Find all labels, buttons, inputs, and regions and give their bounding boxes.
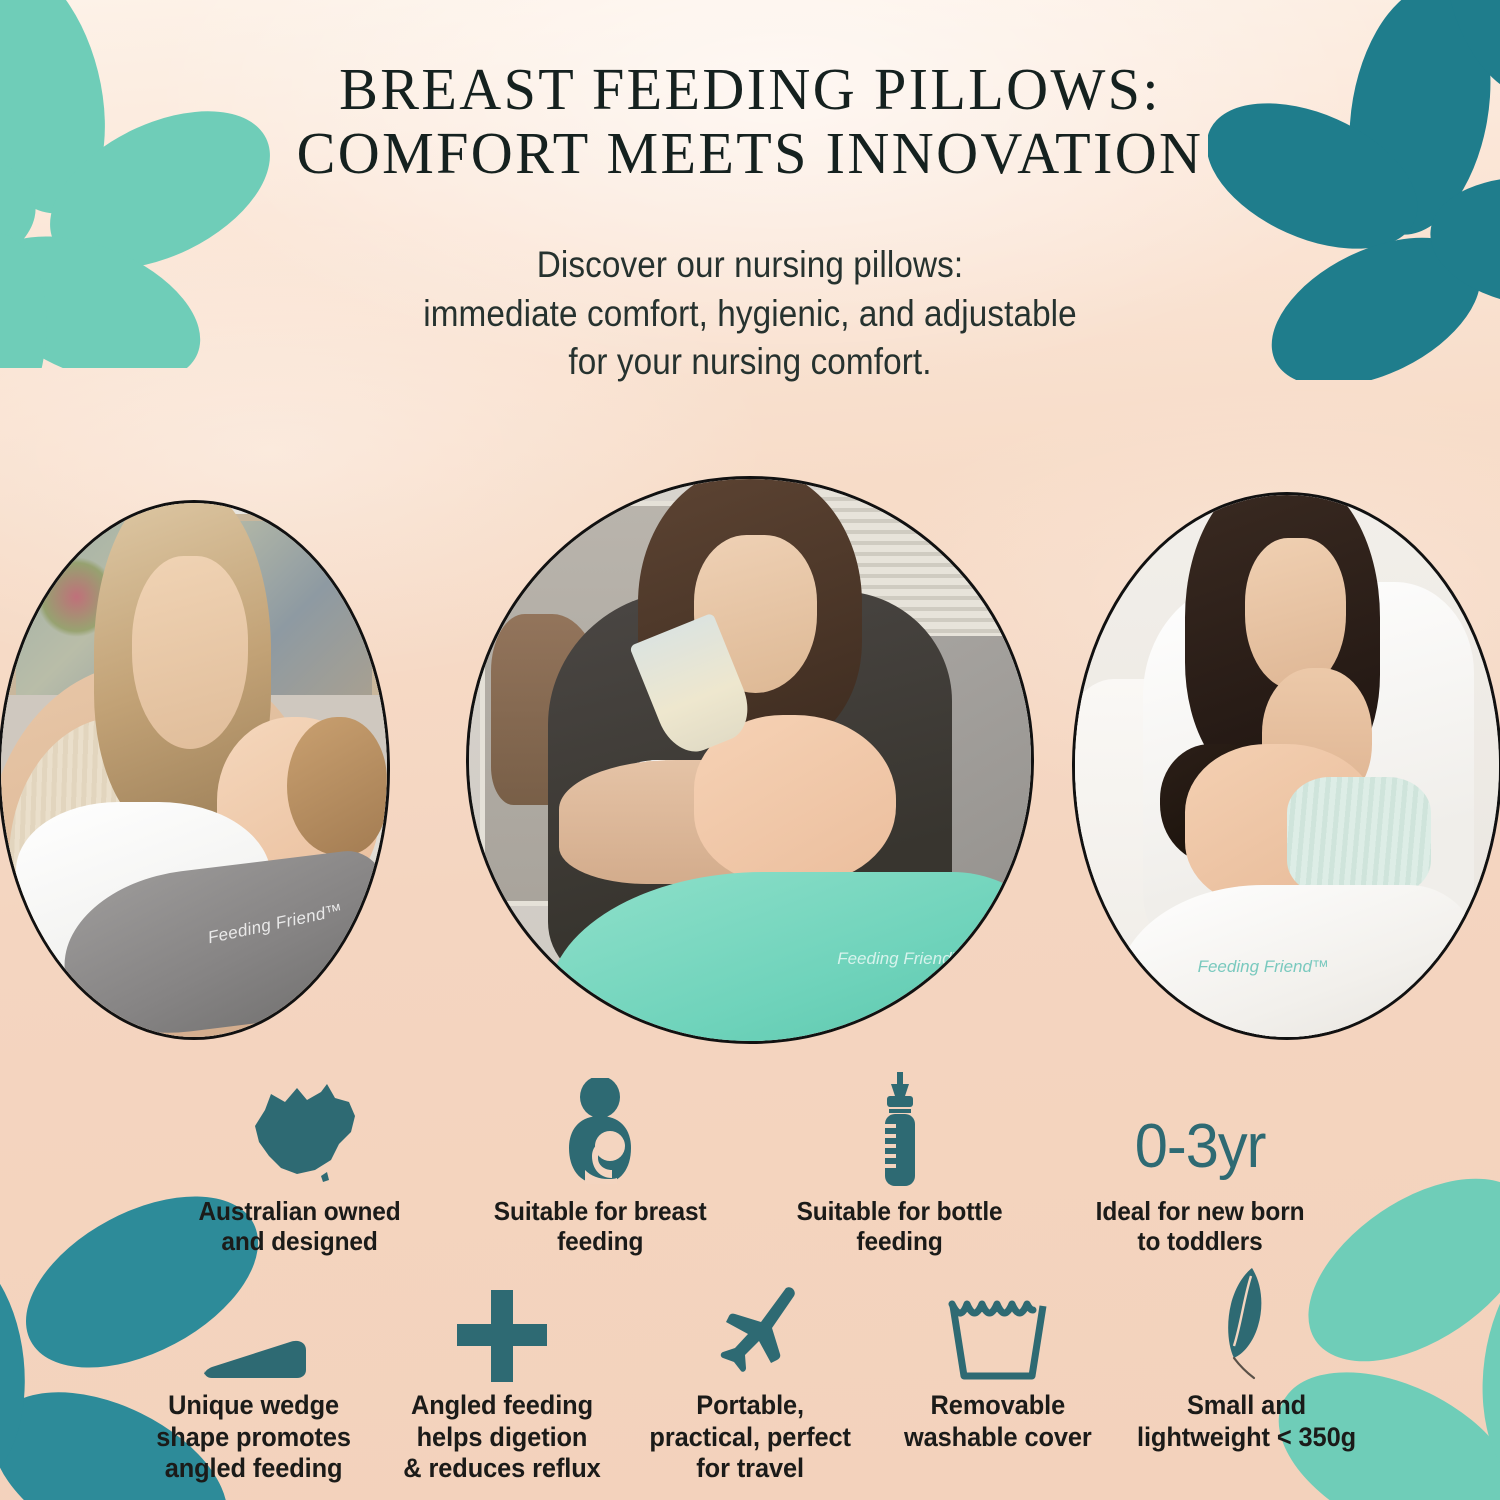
product-photo-row: Feeding Friend™ Feeding Friend™: [0, 476, 1500, 1036]
breastfeeding-icon: [552, 1078, 648, 1188]
feature-label: Unique wedge shape promotes angled feedi…: [157, 1390, 352, 1484]
feature-label: Suitable for breast feeding: [494, 1196, 707, 1256]
airplane-icon: [700, 1278, 800, 1382]
feature-breast-feeding: Suitable for breast feeding: [450, 1078, 750, 1256]
page-subtitle-line-1: Discover our nursing pillows:: [300, 241, 1200, 289]
product-photo-breastfeeding-grey: Feeding Friend™: [0, 500, 390, 1040]
page-title: BREAST FEEDING PILLOWS: COMFORT MEETS IN…: [11, 58, 1489, 185]
baby-bottle-icon: [863, 1078, 937, 1188]
page-title-line-1: BREAST FEEDING PILLOWS:: [339, 56, 1161, 122]
pillow-brand-label: Feeding Friend™: [1198, 957, 1329, 977]
page-subtitle-line-2: immediate comfort, hygienic, and adjusta…: [300, 290, 1200, 338]
washing-basin-icon: [946, 1278, 1050, 1382]
feature-label: Portable, practical, perfect for travel: [649, 1390, 850, 1484]
feature-row-1: Australian owned and designed Suitable f…: [0, 1078, 1500, 1256]
feature-label: Suitable for bottle feeding: [797, 1196, 1003, 1256]
feature-angled-feeding: Angled feeding helps digetion & reduces …: [378, 1278, 626, 1484]
feature-label: Removable washable cover: [904, 1390, 1092, 1453]
page-title-line-2: COMFORT MEETS INNOVATION: [11, 122, 1489, 186]
feather-icon: [1208, 1278, 1284, 1382]
feature-age-range: 0-3yr Ideal for new born to toddlers: [1050, 1078, 1350, 1256]
product-photo-bottlefeeding-mint: Feeding Friend™: [466, 476, 1034, 1044]
page-subtitle: Discover our nursing pillows: immediate …: [300, 241, 1200, 385]
feature-row-2: Unique wedge shape promotes angled feedi…: [0, 1278, 1500, 1484]
infographic-poster: BREAST FEEDING PILLOWS: COMFORT MEETS IN…: [0, 0, 1500, 1500]
feature-australian-owned: Australian owned and designed: [150, 1078, 450, 1256]
pillow-brand-label: Feeding Friend™: [206, 901, 345, 949]
feature-label: Small and lightweight < 350g: [1136, 1390, 1355, 1453]
feature-label: Australian owned and designed: [199, 1196, 401, 1256]
feature-label: Angled feeding helps digetion & reduces …: [403, 1390, 600, 1484]
feature-bottle-feeding: Suitable for bottle feeding: [750, 1078, 1050, 1256]
product-photo-breastfeeding-white: Feeding Friend™: [1072, 492, 1500, 1040]
wedge-shape-icon: [198, 1278, 310, 1382]
feature-portable: Portable, practical, perfect for travel: [626, 1278, 874, 1484]
australia-map-icon: [235, 1078, 365, 1188]
feature-washable-cover: Removable washable cover: [874, 1278, 1122, 1453]
age-range-text: 0-3yr: [1135, 1116, 1266, 1188]
feature-grid: Australian owned and designed Suitable f…: [0, 1078, 1500, 1484]
header-block: BREAST FEEDING PILLOWS: COMFORT MEETS IN…: [0, 58, 1500, 386]
page-subtitle-line-3: for your nursing comfort.: [300, 338, 1200, 386]
pillow-brand-label: Feeding Friend™: [837, 949, 968, 969]
feature-wedge-shape: Unique wedge shape promotes angled feedi…: [130, 1278, 378, 1484]
plus-cross-icon: [457, 1278, 547, 1382]
feature-lightweight: Small and lightweight < 350g: [1122, 1278, 1370, 1453]
age-range-icon: 0-3yr: [1132, 1078, 1268, 1188]
feature-label: Ideal for new born to toddlers: [1096, 1196, 1305, 1256]
